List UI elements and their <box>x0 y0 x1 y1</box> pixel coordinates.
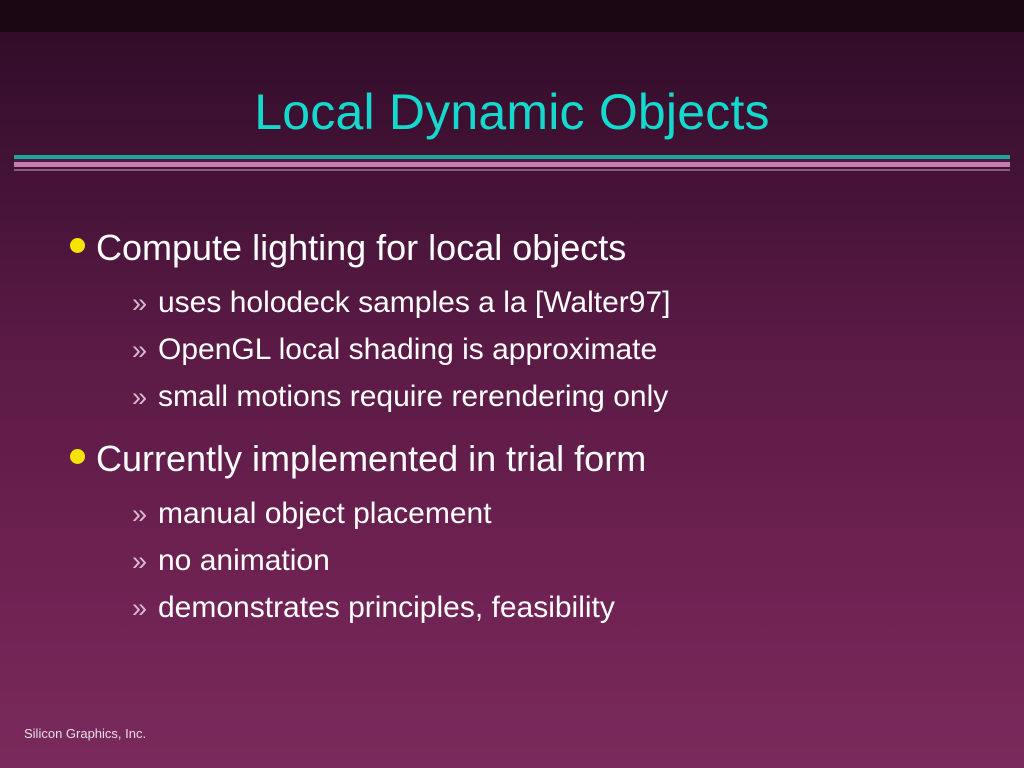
bullet-marker-disc <box>70 433 96 464</box>
bullet-item-level2: » OpenGL local shading is approximate <box>132 327 990 373</box>
slide-title: Local Dynamic Objects <box>0 84 1024 140</box>
bullet-marker-disc <box>70 222 96 253</box>
bullet-level2-text: no animation <box>158 538 330 584</box>
slide-footer: Silicon Graphics, Inc. <box>24 726 146 742</box>
bullet-level1-text: Compute lighting for local objects <box>96 222 626 274</box>
disc-icon <box>70 449 85 464</box>
divider-pink <box>14 162 1010 167</box>
bullet-item-level2: » no animation <box>132 538 990 584</box>
bullet-marker-guillemet: » <box>132 327 158 373</box>
bullet-item-level1: Currently implemented in trial form <box>70 433 990 485</box>
bullet-item-level2: » manual object placement <box>132 491 990 537</box>
bullet-item-level2: » small motions require rerendering only <box>132 374 990 420</box>
slide-body: Compute lighting for local objects » use… <box>70 222 990 632</box>
disc-icon <box>70 238 85 253</box>
bullet-marker-guillemet: » <box>132 585 158 631</box>
bullet-marker-guillemet: » <box>132 491 158 537</box>
bullet-level2-text: OpenGL local shading is approximate <box>158 327 657 373</box>
title-divider-rules <box>14 155 1010 171</box>
bullet-item-level1: Compute lighting for local objects <box>70 222 990 274</box>
bullet-item-level2: » uses holodeck samples a la [Walter97] <box>132 280 990 326</box>
bullet-item-level2: » demonstrates principles, feasibility <box>132 585 990 631</box>
slide-top-band <box>0 0 1024 32</box>
divider-thin <box>14 169 1010 171</box>
bullet-group-spacer <box>70 421 990 433</box>
bullet-level1-text: Currently implemented in trial form <box>96 433 646 485</box>
slide-title-area: Local Dynamic Objects <box>0 32 1024 154</box>
bullet-level2-text: small motions require rerendering only <box>158 374 668 420</box>
bullet-level2-text: uses holodeck samples a la [Walter97] <box>158 280 670 326</box>
bullet-level2-text: demonstrates principles, feasibility <box>158 585 615 631</box>
bullet-level2-text: manual object placement <box>158 491 492 537</box>
bullet-marker-guillemet: » <box>132 280 158 326</box>
presentation-slide: Local Dynamic Objects Compute lighting f… <box>0 0 1024 768</box>
bullet-marker-guillemet: » <box>132 538 158 584</box>
bullet-marker-guillemet: » <box>132 374 158 420</box>
